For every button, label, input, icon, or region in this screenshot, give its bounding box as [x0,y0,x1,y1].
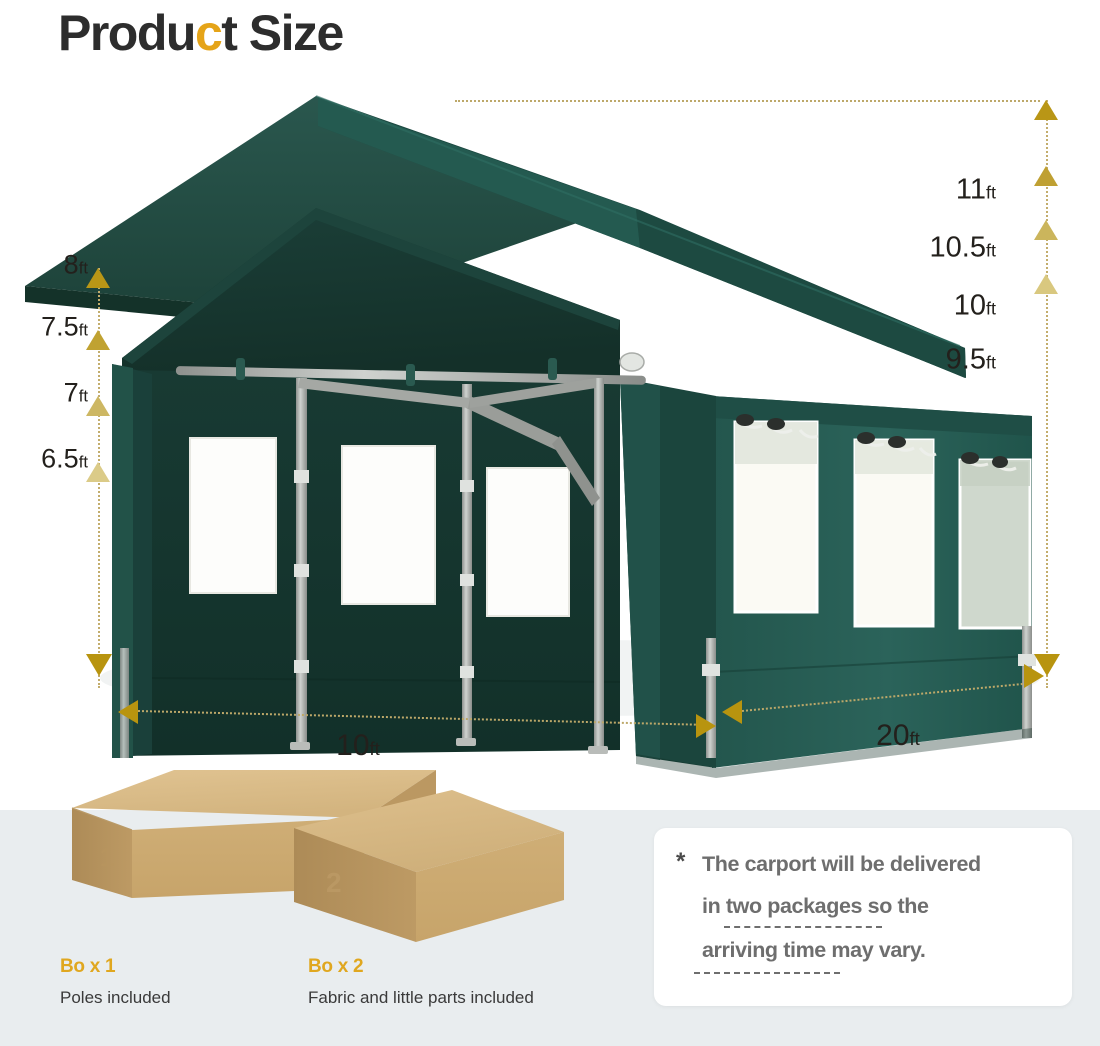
right-arrow-9_5ft [1034,274,1058,294]
length-arrow-left [722,700,742,724]
note-line-3: arriving time may vary. [702,938,925,963]
left-arrow-8ft [86,268,110,288]
note-line-2: in two packages so the [702,894,929,919]
left-arrow-6_5ft [86,462,110,482]
right-height-axis-line [1046,100,1048,688]
left-arrow-7ft [86,396,110,416]
page-title: Product Size [58,4,343,62]
delivery-note-card: * The carport will be delivered in two p… [654,828,1072,1006]
box-2-caption: Bo x 2 [308,956,363,978]
box-2-description: Fabric and little parts included [308,988,534,1008]
width-arrow-left [118,700,138,724]
dim-left-6_5ft: 6.5ft [41,443,88,474]
title-suffix: t Size [221,5,343,61]
dim-bottom-10ft: 10ft [336,729,380,763]
box-1-description: Poles included [60,988,171,1008]
svg-text:1: 1 [100,842,114,872]
asterisk-icon: * [676,850,685,874]
product-size-infographic: Product Size [0,0,1100,1046]
dim-right-9_5ft: 9.5ft [946,344,996,377]
dim-bottom-20ft: 20ft [876,719,920,753]
dim-left-8ft: 8ft [64,249,88,280]
dim-right-11ft: 11ft [956,174,996,207]
guide-line-roof-peak [455,100,1040,102]
dim-right-10_5ft: 10.5ft [930,232,996,265]
right-arrow-11ft [1034,100,1058,120]
dim-right-10ft: 10ft [954,290,996,323]
box-1-caption: Bo x 1 [60,956,115,978]
right-arrow-10_5ft [1034,166,1058,186]
illustration-stage: 11ft 10.5ft 10ft 9.5ft 8ft 7.5ft 7ft [0,78,1100,810]
note-underline-3 [694,972,840,974]
dim-left-7_5ft: 7.5ft [41,311,88,342]
note-underline-2 [724,926,882,928]
left-arrow-7_5ft [86,330,110,350]
title-prefix: Produ [58,5,195,61]
package-boxes-illustration: 1 2 [44,760,644,950]
title-accent-letter: c [195,5,221,61]
left-axis-bottom-arrow [86,654,112,676]
svg-text:2: 2 [326,867,342,898]
right-arrow-10ft [1034,220,1058,240]
carport-illustration [0,78,1100,810]
width-arrow-right [696,714,716,738]
length-arrow-right [1024,664,1044,688]
dim-left-7ft: 7ft [64,377,88,408]
note-line-1: The carport will be delivered [702,852,981,877]
